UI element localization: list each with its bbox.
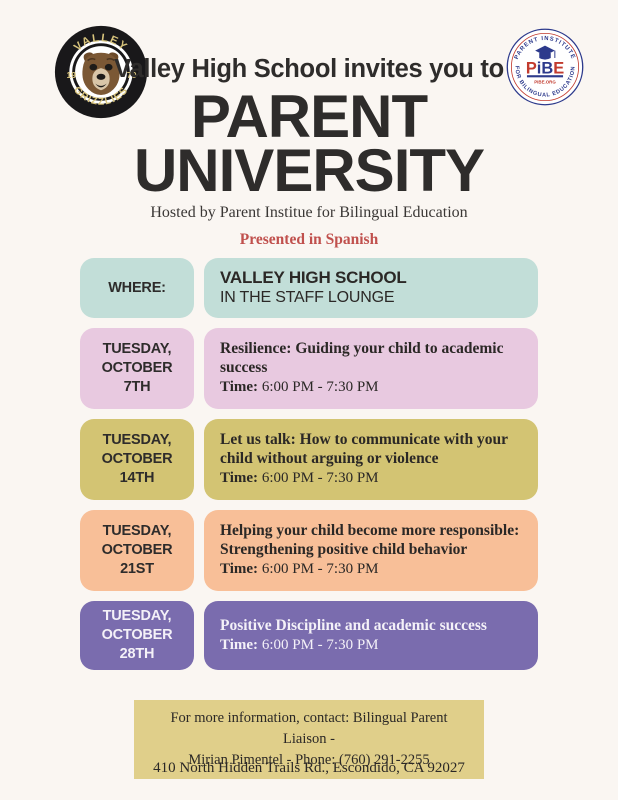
session-time: Time: 6:00 PM - 7:30 PM bbox=[220, 560, 524, 579]
schedule-list: WHERE: VALLEY HIGH SCHOOL IN THE STAFF L… bbox=[80, 258, 538, 670]
date-line-3: 21ST bbox=[120, 561, 154, 577]
time-label: Time: bbox=[220, 379, 258, 395]
session-time: Time: 6:00 PM - 7:30 PM bbox=[220, 469, 524, 488]
time-label: Time: bbox=[220, 470, 258, 486]
hosted-by-line: Hosted by Parent Institue for Bilingual … bbox=[0, 204, 618, 222]
schedule-row-where: WHERE: VALLEY HIGH SCHOOL IN THE STAFF L… bbox=[80, 258, 538, 318]
date-line-2: OCTOBER bbox=[102, 360, 173, 376]
date-line-1: TUESDAY, bbox=[103, 608, 172, 624]
time-value: 6:00 PM - 7:30 PM bbox=[262, 379, 379, 395]
session-topic: Let us talk: How to communicate with you… bbox=[220, 430, 524, 468]
date-line-2: OCTOBER bbox=[102, 542, 173, 558]
venue-name: VALLEY HIGH SCHOOL bbox=[220, 268, 524, 288]
title-line-2: UNIVERSITY bbox=[0, 146, 618, 196]
page-title: PARENT UNIVERSITY bbox=[0, 92, 618, 196]
date-line-3: 14TH bbox=[120, 470, 155, 486]
date-line-1: TUESDAY, bbox=[103, 432, 172, 448]
session-time: Time: 6:00 PM - 7:30 PM bbox=[220, 378, 524, 397]
date-line-2: OCTOBER bbox=[102, 627, 173, 643]
venue-room: IN THE STAFF LOUNGE bbox=[220, 288, 524, 308]
session-cell-oct-28: Positive Discipline and academic success… bbox=[204, 601, 538, 670]
schedule-row-oct-21: TUESDAY, OCTOBER 21ST Helping your child… bbox=[80, 510, 538, 591]
session-time: Time: 6:00 PM - 7:30 PM bbox=[220, 636, 524, 655]
time-label: Time: bbox=[220, 637, 258, 653]
date-line-3: 7TH bbox=[124, 379, 151, 395]
schedule-row-oct-7: TUESDAY, OCTOBER 7TH Resilience: Guiding… bbox=[80, 328, 538, 409]
schedule-row-oct-14: TUESDAY, OCTOBER 14TH Let us talk: How t… bbox=[80, 419, 538, 500]
where-venue-cell: VALLEY HIGH SCHOOL IN THE STAFF LOUNGE bbox=[204, 258, 538, 318]
presented-in-spanish-line: Presented in Spanish bbox=[0, 231, 618, 249]
invite-line: Valley High School invites you to bbox=[0, 55, 618, 84]
schedule-row-oct-28: TUESDAY, OCTOBER 28TH Positive Disciplin… bbox=[80, 601, 538, 670]
session-cell-oct-7: Resilience: Guiding your child to academ… bbox=[204, 328, 538, 409]
date-line-3: 28TH bbox=[120, 646, 155, 662]
time-value: 6:00 PM - 7:30 PM bbox=[262, 561, 379, 577]
address-line: 410 North Hidden Trails Rd., Escondido, … bbox=[0, 760, 618, 777]
session-topic: Positive Discipline and academic success bbox=[220, 616, 524, 635]
flyer-header: VALLEY GRIZZLIES 19 70 bbox=[0, 0, 618, 200]
time-label: Time: bbox=[220, 561, 258, 577]
time-value: 6:00 PM - 7:30 PM bbox=[262, 637, 379, 653]
session-topic: Helping your child become more responsib… bbox=[220, 521, 524, 559]
date-cell-oct-14: TUESDAY, OCTOBER 14TH bbox=[80, 419, 194, 500]
where-label-cell: WHERE: bbox=[80, 258, 194, 318]
session-topic: Resilience: Guiding your child to academ… bbox=[220, 339, 524, 377]
session-cell-oct-14: Let us talk: How to communicate with you… bbox=[204, 419, 538, 500]
date-line-2: OCTOBER bbox=[102, 451, 173, 467]
parent-university-flyer: VALLEY GRIZZLIES 19 70 bbox=[0, 0, 618, 800]
contact-line-1: For more information, contact: Bilingual… bbox=[148, 708, 470, 750]
session-cell-oct-21: Helping your child become more responsib… bbox=[204, 510, 538, 591]
date-line-1: TUESDAY, bbox=[103, 341, 172, 357]
date-line-1: TUESDAY, bbox=[103, 523, 172, 539]
date-cell-oct-21: TUESDAY, OCTOBER 21ST bbox=[80, 510, 194, 591]
date-cell-oct-7: TUESDAY, OCTOBER 7TH bbox=[80, 328, 194, 409]
time-value: 6:00 PM - 7:30 PM bbox=[262, 470, 379, 486]
date-cell-oct-28: TUESDAY, OCTOBER 28TH bbox=[80, 601, 194, 670]
